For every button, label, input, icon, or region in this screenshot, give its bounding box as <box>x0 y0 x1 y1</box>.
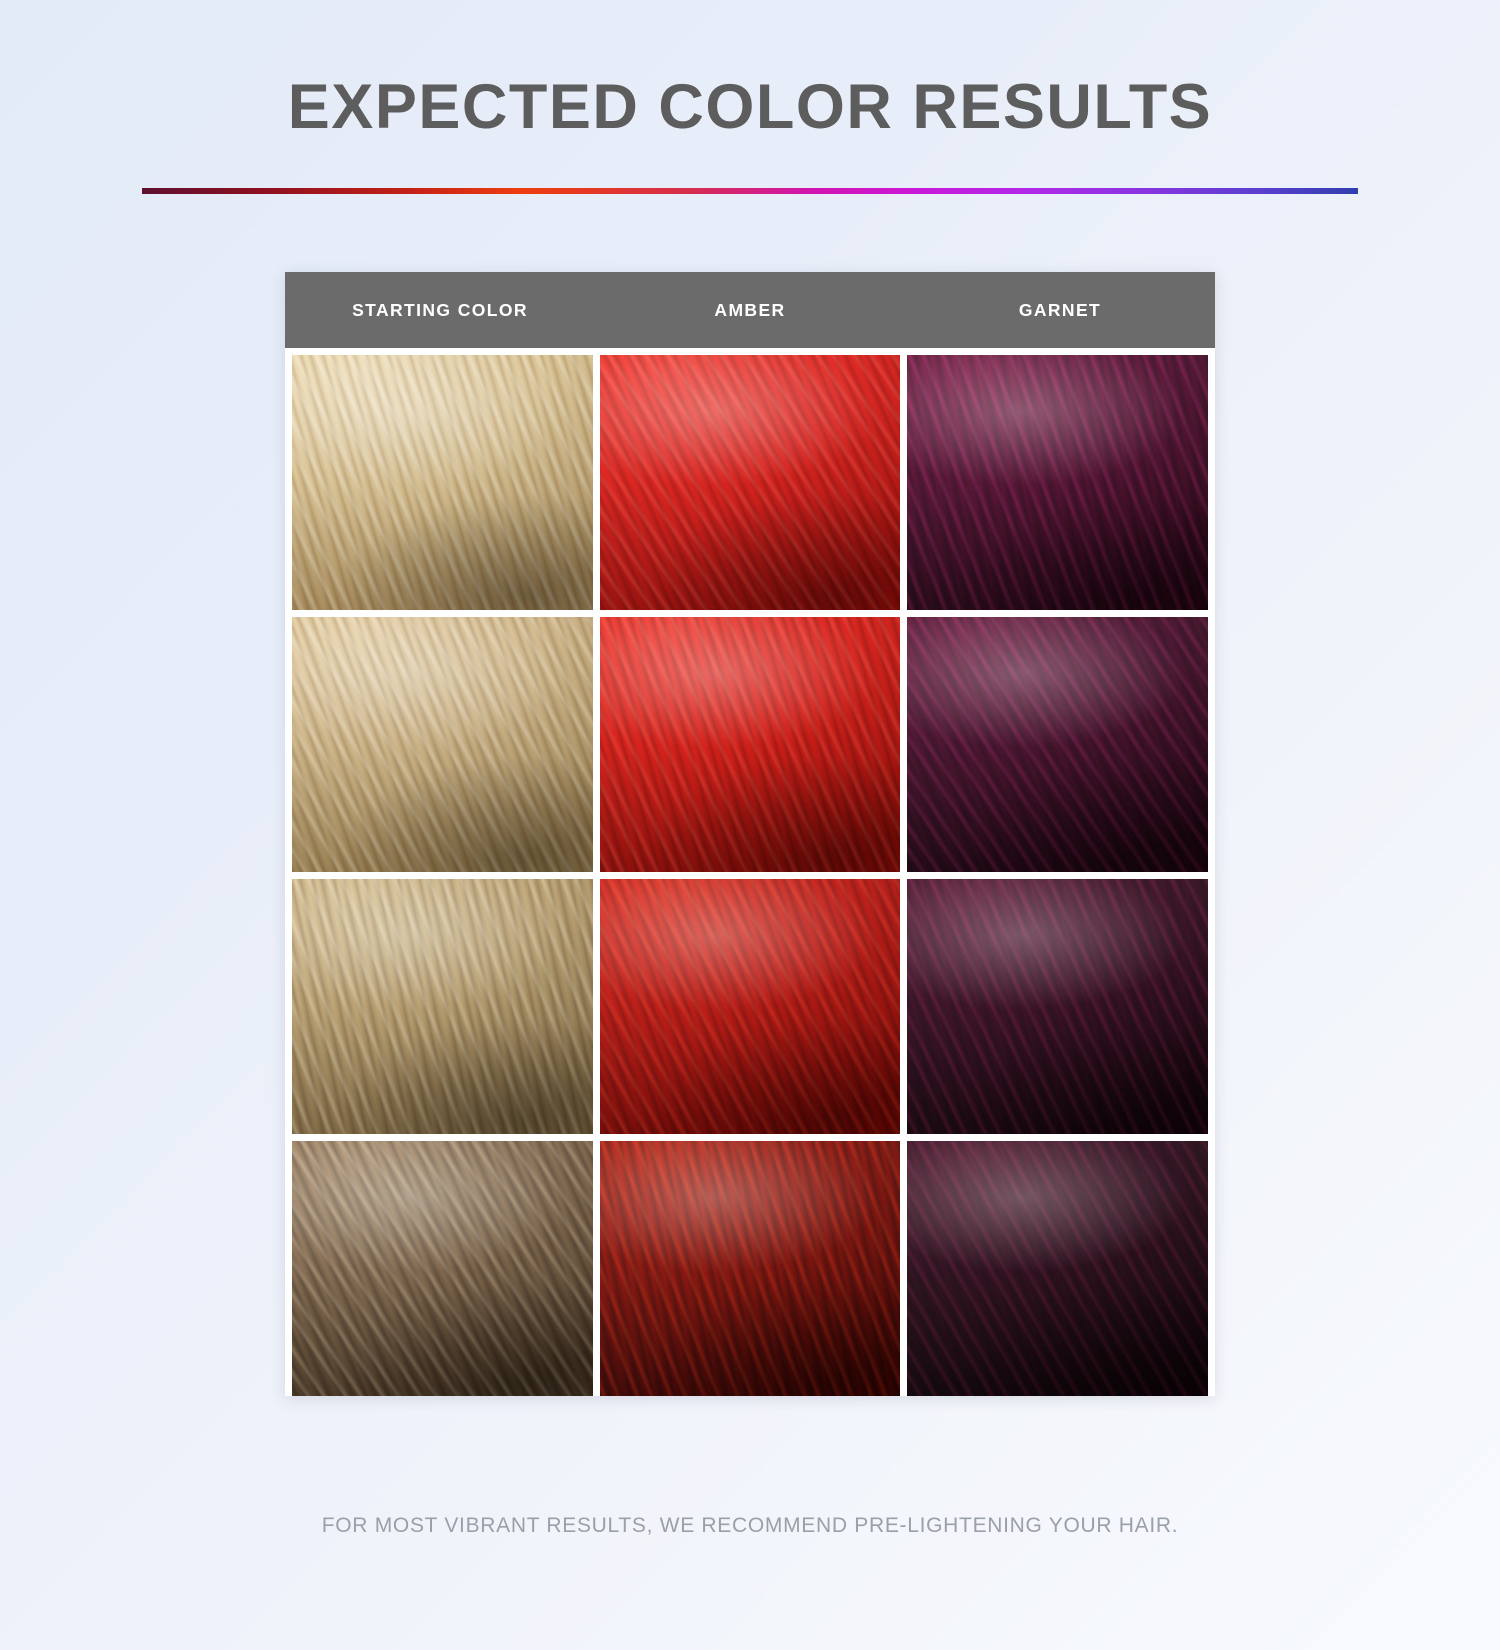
chart-header-row: STARTING COLOR AMBER GARNET <box>285 272 1215 348</box>
color-results-chart-container: STARTING COLOR AMBER GARNET <box>285 272 1215 1396</box>
swatch-strand-highlight <box>292 355 593 610</box>
starting-color-lightest-blonde <box>292 355 593 610</box>
amber-on-light-blonde <box>600 617 901 872</box>
swatch-strand-highlight <box>600 879 901 1134</box>
amber-on-lightest-blonde <box>600 355 901 610</box>
swatch-row <box>285 348 1215 610</box>
swatch-strand-highlight <box>907 879 1208 1134</box>
amber-on-medium-blonde <box>600 879 901 1134</box>
swatch-strand-highlight <box>600 617 901 872</box>
column-header-amber: AMBER <box>595 272 905 348</box>
swatch-strand-highlight <box>292 1141 593 1396</box>
chart-body <box>285 348 1215 1396</box>
gradient-rule-container <box>142 188 1358 194</box>
starting-color-medium-blonde <box>292 879 593 1134</box>
swatch-strand-highlight <box>600 1141 901 1396</box>
gradient-rule <box>142 188 1358 194</box>
garnet-on-light-blonde <box>907 617 1208 872</box>
amber-on-light-brown <box>600 1141 901 1396</box>
swatch-strand-highlight <box>292 617 593 872</box>
page-header: EXPECTED COLOR RESULTS <box>0 0 1500 194</box>
swatch-strand-highlight <box>907 355 1208 610</box>
swatch-row <box>285 879 1215 1134</box>
garnet-on-medium-blonde <box>907 879 1208 1134</box>
swatch-strand-highlight <box>292 879 593 1134</box>
swatch-row <box>285 617 1215 872</box>
page-title: EXPECTED COLOR RESULTS <box>0 74 1500 140</box>
garnet-on-light-brown <box>907 1141 1208 1396</box>
garnet-on-lightest-blonde <box>907 355 1208 610</box>
swatch-strand-highlight <box>600 355 901 610</box>
column-header-garnet: GARNET <box>905 272 1215 348</box>
starting-color-light-blonde <box>292 617 593 872</box>
swatch-row <box>285 1141 1215 1396</box>
starting-color-light-brown <box>292 1141 593 1396</box>
swatch-strand-highlight <box>907 1141 1208 1396</box>
footer-note: FOR MOST VIBRANT RESULTS, WE RECOMMEND P… <box>200 1514 1300 1538</box>
column-header-starting-color: STARTING COLOR <box>285 272 595 348</box>
swatch-strand-highlight <box>907 617 1208 872</box>
color-results-chart: STARTING COLOR AMBER GARNET <box>285 272 1215 1396</box>
